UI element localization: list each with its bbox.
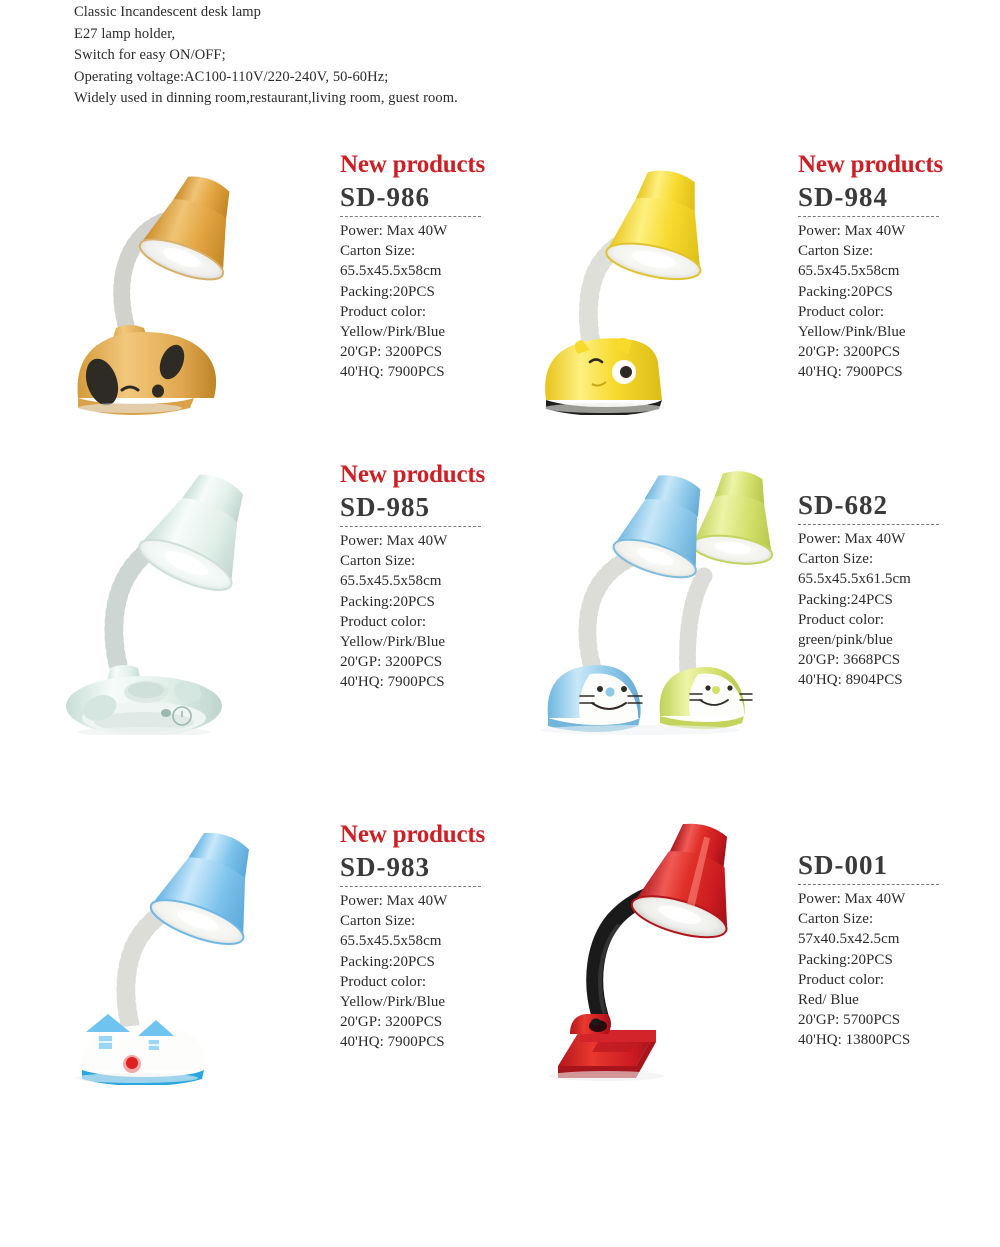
product-image-mouse-mint bbox=[60, 460, 360, 790]
spec-color-value: Yellow/Pirk/Blue bbox=[340, 992, 530, 1012]
intro-line-2: E27 lamp holder, bbox=[74, 24, 714, 46]
product-image-house-blue bbox=[60, 820, 360, 1120]
spec-20gp: 20'GP: 3200PCS bbox=[340, 652, 530, 672]
spec-power: Power: Max 40W bbox=[340, 221, 530, 241]
spec-20gp: 20'GP: 3200PCS bbox=[798, 342, 988, 362]
intro-line-1: Classic Incandescent desk lamp bbox=[74, 2, 714, 24]
product-specs-sd-985: New products SD-985 Power: Max 40W Carto… bbox=[340, 460, 530, 693]
spec-40hq: 40'HQ: 7900PCS bbox=[340, 1032, 530, 1052]
spec-color-label: Product color: bbox=[340, 972, 530, 992]
spec-power: Power: Max 40W bbox=[798, 529, 988, 549]
spec-40hq: 40'HQ: 7900PCS bbox=[798, 362, 988, 382]
divider bbox=[798, 216, 939, 217]
spec-carton-label: Carton Size: bbox=[798, 549, 988, 569]
product-image-classic-red bbox=[540, 820, 840, 1120]
spec-power: Power: Max 40W bbox=[798, 889, 988, 909]
divider bbox=[340, 216, 481, 217]
divider bbox=[340, 526, 481, 527]
spec-color-value: Yellow/Pirk/Blue bbox=[340, 632, 530, 652]
intro-line-4: Operating voltage:AC100-110V/220-240V, 5… bbox=[74, 67, 714, 89]
product-image-bear-yellow bbox=[520, 150, 820, 460]
spec-40hq: 40'HQ: 7900PCS bbox=[340, 362, 530, 382]
intro-line-3: Switch for easy ON/OFF; bbox=[74, 45, 714, 67]
spec-carton-label: Carton Size: bbox=[340, 911, 530, 931]
spec-carton-label: Carton Size: bbox=[798, 909, 988, 929]
intro-description: Classic Incandescent desk lamp E27 lamp … bbox=[74, 2, 714, 110]
product-image-dog-tan bbox=[60, 150, 360, 460]
spec-20gp: 20'GP: 3200PCS bbox=[340, 1012, 530, 1032]
spec-color-value: Yellow/Pink/Blue bbox=[798, 322, 988, 342]
spec-packing: Packing:24PCS bbox=[798, 590, 988, 610]
spec-carton-label: Carton Size: bbox=[340, 241, 530, 261]
spec-color-label: Product color: bbox=[340, 612, 530, 632]
divider bbox=[798, 884, 939, 885]
spec-40hq: 40'HQ: 13800PCS bbox=[798, 1030, 988, 1050]
new-products-banner: New products bbox=[340, 150, 530, 180]
product-specs-sd-984: New products SD-984 Power: Max 40W Carto… bbox=[798, 150, 988, 383]
new-products-banner: New products bbox=[340, 460, 530, 490]
product-row-2: New products SD-985 Power: Max 40W Carto… bbox=[0, 460, 1000, 790]
divider bbox=[798, 524, 939, 525]
spec-carton-value: 57x40.5x42.5cm bbox=[798, 929, 988, 949]
product-specs-sd-682: SD-682 Power: Max 40W Carton Size: 65.5x… bbox=[798, 488, 988, 691]
spec-carton-value: 65.5x45.5x58cm bbox=[340, 261, 530, 281]
spec-power: Power: Max 40W bbox=[340, 531, 530, 551]
product-model: SD-985 bbox=[340, 491, 530, 523]
catalog-page: Classic Incandescent desk lamp E27 lamp … bbox=[0, 0, 1000, 1247]
product-card-sd-001: SD-001 Power: Max 40W Carton Size: 57x40… bbox=[520, 820, 990, 1120]
spec-20gp: 20'GP: 3200PCS bbox=[340, 342, 530, 362]
product-model: SD-682 bbox=[798, 489, 988, 521]
intro-line-5: Widely used in dinning room,restaurant,l… bbox=[74, 88, 714, 110]
spec-color-value: green/pink/blue bbox=[798, 630, 988, 650]
product-specs-sd-001: SD-001 Power: Max 40W Carton Size: 57x40… bbox=[798, 848, 988, 1051]
spec-color-label: Product color: bbox=[798, 610, 988, 630]
product-specs-sd-986: New products SD-986 Power: Max 40W Carto… bbox=[340, 150, 530, 383]
spec-carton-value: 65.5x45.5x58cm bbox=[340, 571, 530, 591]
product-row-1: New products SD-986 Power: Max 40W Carto… bbox=[0, 150, 1000, 460]
product-model: SD-001 bbox=[798, 849, 988, 881]
product-card-sd-984: New products SD-984 Power: Max 40W Carto… bbox=[520, 150, 990, 460]
new-products-banner: New products bbox=[340, 820, 530, 850]
product-card-sd-983: New products SD-983 Power: Max 40W Carto… bbox=[60, 820, 520, 1120]
product-card-sd-985: New products SD-985 Power: Max 40W Carto… bbox=[60, 460, 520, 790]
spec-color-value: Red/ Blue bbox=[798, 990, 988, 1010]
spec-carton-label: Carton Size: bbox=[340, 551, 530, 571]
spec-color-label: Product color: bbox=[340, 302, 530, 322]
product-grid: New products SD-986 Power: Max 40W Carto… bbox=[0, 150, 1000, 1120]
spec-carton-value: 65.5x45.5x61.5cm bbox=[798, 569, 988, 589]
product-image-cat-pair bbox=[520, 460, 820, 790]
spec-packing: Packing:20PCS bbox=[798, 950, 988, 970]
spec-carton-label: Carton Size: bbox=[798, 241, 988, 261]
spec-20gp: 20'GP: 3668PCS bbox=[798, 650, 988, 670]
product-row-3: New products SD-983 Power: Max 40W Carto… bbox=[0, 820, 1000, 1120]
product-model: SD-986 bbox=[340, 181, 530, 213]
spec-packing: Packing:20PCS bbox=[340, 282, 530, 302]
new-products-banner: New products bbox=[798, 150, 988, 180]
spec-color-label: Product color: bbox=[798, 302, 988, 322]
spec-packing: Packing:20PCS bbox=[798, 282, 988, 302]
product-card-sd-682: SD-682 Power: Max 40W Carton Size: 65.5x… bbox=[520, 460, 990, 790]
spec-40hq: 40'HQ: 7900PCS bbox=[340, 672, 530, 692]
divider bbox=[340, 886, 481, 887]
spec-color-label: Product color: bbox=[798, 970, 988, 990]
spec-carton-value: 65.5x45.5x58cm bbox=[798, 261, 988, 281]
spec-40hq: 40'HQ: 8904PCS bbox=[798, 670, 988, 690]
product-specs-sd-983: New products SD-983 Power: Max 40W Carto… bbox=[340, 820, 530, 1053]
spec-packing: Packing:20PCS bbox=[340, 952, 530, 972]
spec-packing: Packing:20PCS bbox=[340, 592, 530, 612]
spec-color-value: Yellow/Pirk/Blue bbox=[340, 322, 530, 342]
spec-power: Power: Max 40W bbox=[340, 891, 530, 911]
spec-power: Power: Max 40W bbox=[798, 221, 988, 241]
spec-20gp: 20'GP: 5700PCS bbox=[798, 1010, 988, 1030]
spec-carton-value: 65.5x45.5x58cm bbox=[340, 931, 530, 951]
product-model: SD-983 bbox=[340, 851, 530, 883]
product-model: SD-984 bbox=[798, 181, 988, 213]
product-card-sd-986: New products SD-986 Power: Max 40W Carto… bbox=[60, 150, 520, 460]
